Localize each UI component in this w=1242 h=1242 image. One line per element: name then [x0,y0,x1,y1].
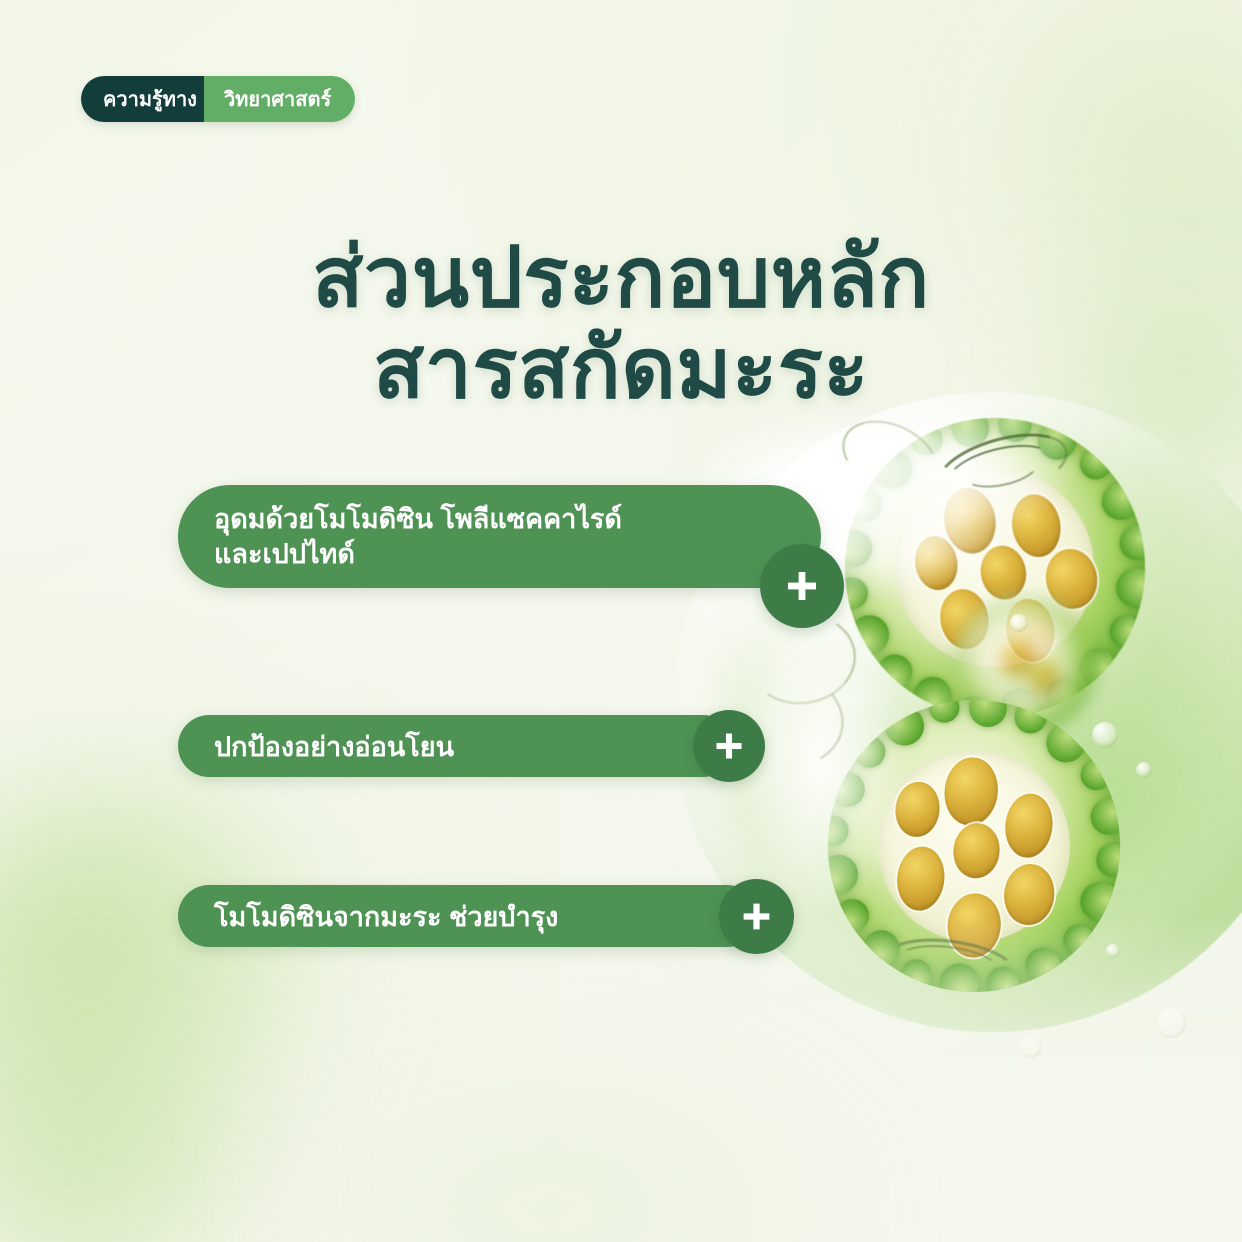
slice-seed [1001,861,1057,927]
bitter-melon-slice-lower [814,686,1135,1007]
badge-segment-knowledge: ความรู้ทาง [81,76,216,122]
artwork-bottom-fade [0,912,1242,1242]
feature-pill-3[interactable]: โมโมดิซินจากมะระ ช่วยบำรุง [178,885,758,947]
slice-bumps [814,686,1135,1007]
feature-item-2[interactable]: ปกป้องอย่างอ่อนโยน [178,715,734,777]
gel-ribbon-detail [942,436,1057,505]
slice-flesh [868,740,1080,952]
slice-seed [939,484,1001,558]
slice-seed [1002,791,1055,860]
slice-rind [952,596,1096,736]
slice-seed [894,844,947,913]
plus-icon [783,567,821,605]
slice-seed [893,779,942,839]
water-droplet [1010,614,1028,632]
gel-ribbon-detail [831,407,949,508]
feature-item-1[interactable]: อุดมด้วยโมโมดิซิน โพลีแซคคาไรด์ และเปปไท… [178,485,821,588]
slice-rind [821,394,1169,742]
slice-seed [936,585,994,652]
slice-seed [1030,660,1059,694]
water-droplet [1092,722,1118,748]
slice-flesh [976,620,1071,712]
slice-seed [945,891,1004,960]
background-bokeh-lower-left [0,780,330,1200]
expand-plus-button-3[interactable] [719,879,794,954]
plus-icon [739,899,774,934]
water-droplet [1156,1008,1186,1038]
slice-flesh [880,453,1109,682]
slice-rind [814,686,1135,1007]
slice-bumps [821,394,1169,742]
gel-ribbon-detail [881,931,1021,1001]
bitter-melon-slice-upper [821,394,1169,742]
product-artwork [0,0,1242,1242]
water-droplet [1136,762,1152,778]
background-glow-bottom [240,1060,860,1242]
slice-seed [1001,641,1033,677]
expand-plus-button-2[interactable] [693,710,765,782]
page-title-line-2: สารสกัดมะระ [0,323,1242,414]
slice-seed [1001,595,1059,665]
gel-ribbon-detail [928,420,1075,515]
feature-pill-2[interactable]: ปกป้องอย่างอ่อนโยน [178,715,734,777]
bitter-melon-slice-blurred [952,596,1096,736]
feature-label-2: ปกป้องอย่างอ่อนโยน [214,725,454,768]
water-droplet [1106,944,1120,958]
feature-label-1: อุดมด้วยโมโมดิซิน โพลีแซคคาไรด์ และเปปไท… [214,502,622,570]
feature-pill-1[interactable]: อุดมด้วยโมโมดิซิน โพลีแซคคาไรด์ และเปปไท… [178,485,821,588]
page-title: ส่วนประกอบหลัก สารสกัดมะระ [0,232,1242,413]
slice-seed [977,542,1031,603]
plus-icon [712,729,746,763]
page-title-line-1: ส่วนประกอบหลัก [312,230,930,324]
feature-item-3[interactable]: โมโมดิซินจากมะระ ช่วยบำรุง [178,885,758,947]
ingredient-poster: ความรู้ทาง วิทยาศาสตร์ ส่วนประกอบหลัก สา… [0,0,1242,1242]
feature-label-3: โมโมดิซินจากมะระ ช่วยบำรุง [214,895,558,938]
background-bokeh-bottom-left [0,1020,260,1242]
gel-ribbon-detail [894,940,1002,990]
slice-seed [941,755,1000,827]
gel-ribbon-detail [959,444,1042,493]
slice-seed [1007,491,1065,561]
slice-seed [911,533,962,593]
slice-seed [1041,545,1102,613]
expand-plus-button-1[interactable] [760,544,844,628]
water-droplet [1020,1036,1042,1058]
badge-segment-science: วิทยาศาสตร์ [204,76,355,122]
slice-seed [950,821,1002,881]
category-badge: ความรู้ทาง วิทยาศาสตร์ [81,76,355,122]
